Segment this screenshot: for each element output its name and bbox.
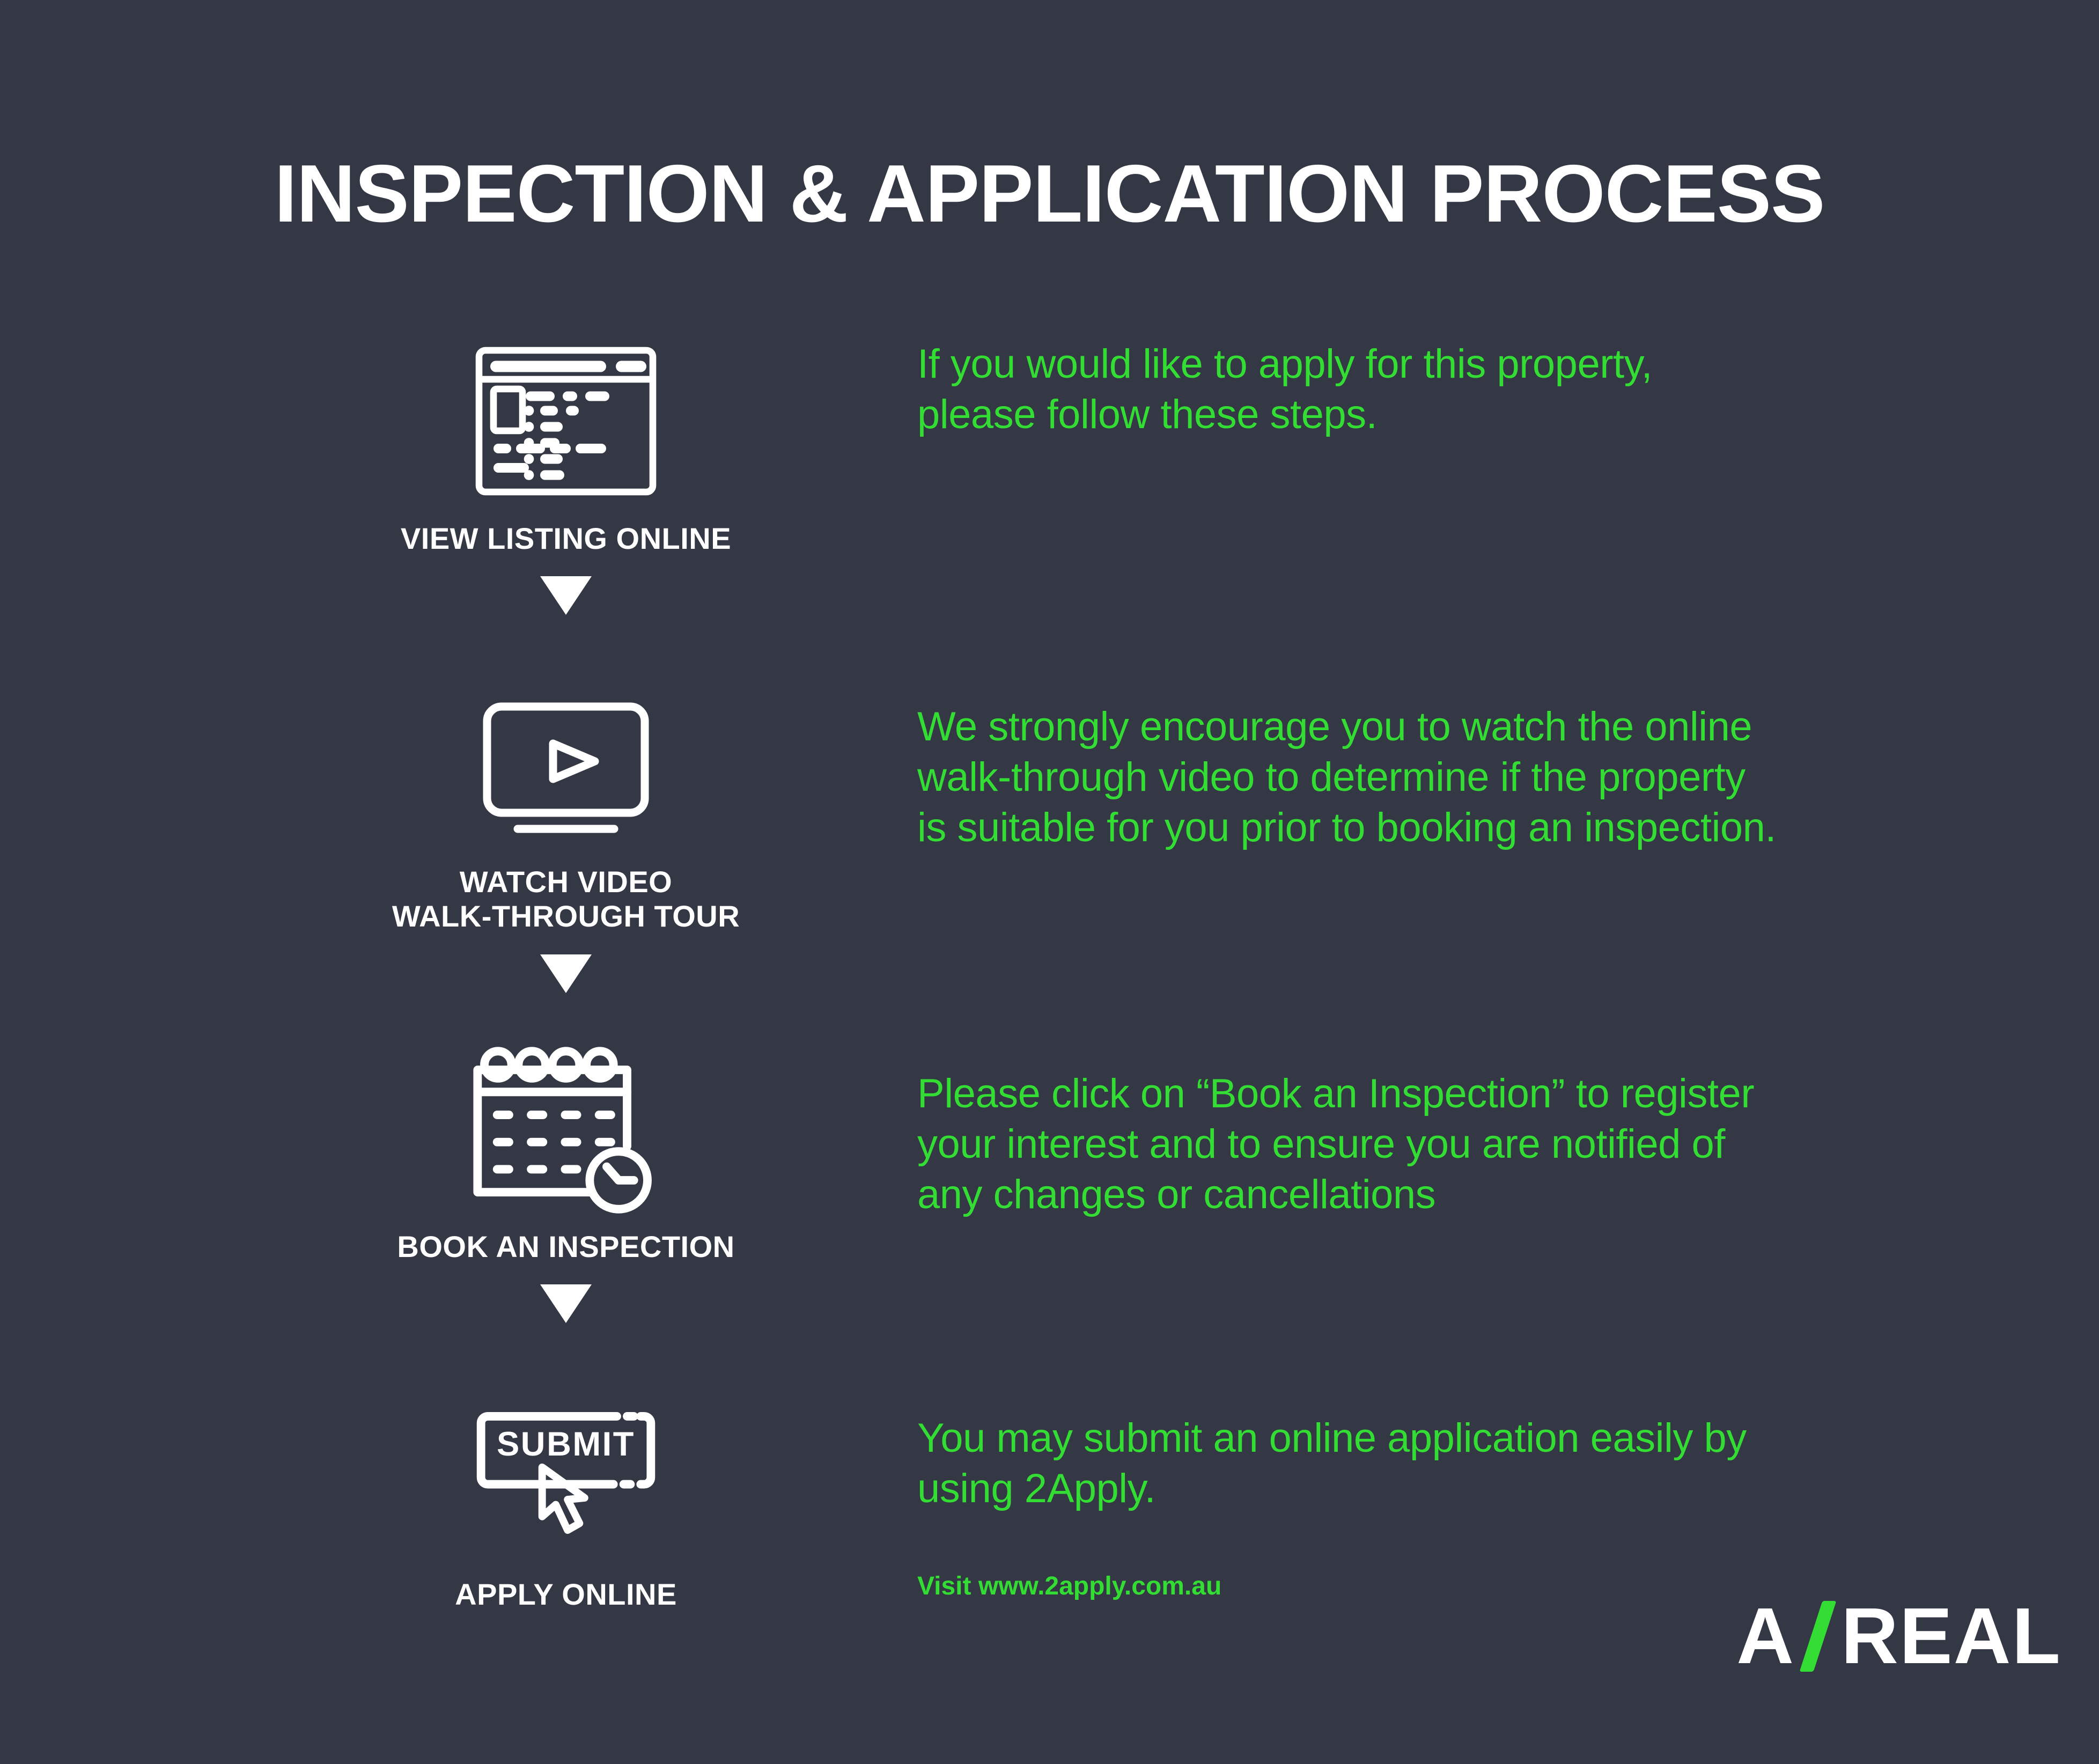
step-1-left: VIEW LISTING ONLINE bbox=[284, 333, 848, 615]
browser-listing-icon bbox=[473, 344, 659, 498]
step-4-left: SUBMIT APPLY ONLINE bbox=[284, 1406, 848, 1612]
step-4-body: You may submit an online application eas… bbox=[917, 1413, 2017, 1514]
step-1-icon-wrap bbox=[284, 333, 848, 510]
page-title: INSPECTION & APPLICATION PROCESS bbox=[0, 153, 2099, 234]
step-row-3: BOOK AN INSPECTION Please click on “Book… bbox=[0, 1041, 2099, 1406]
step-2-label: WATCH VIDEO WALK-THROUGH TOUR bbox=[284, 865, 848, 934]
step-2-icon-wrap bbox=[284, 676, 848, 853]
process-flow: VIEW LISTING ONLINE If you would like to… bbox=[0, 333, 2099, 1663]
step-2-left: WATCH VIDEO WALK-THROUGH TOUR bbox=[284, 676, 848, 993]
step-1-label: VIEW LISTING ONLINE bbox=[284, 521, 848, 556]
slash-icon bbox=[1801, 1601, 1835, 1672]
calendar-clock-icon bbox=[464, 1041, 668, 1218]
visit-url-text[interactable]: Visit www.2apply.com.au bbox=[917, 1571, 1221, 1601]
step-3-arrow-icon bbox=[540, 1284, 592, 1323]
logo-text-real: REAL bbox=[1841, 1597, 2061, 1676]
step-3-body: Please click on “Book an Inspection” to … bbox=[917, 1069, 2017, 1221]
step-3-icon-wrap bbox=[284, 1041, 848, 1218]
step-row-2: WATCH VIDEO WALK-THROUGH TOUR We strongl… bbox=[0, 676, 2099, 1041]
step-2-arrow-icon bbox=[540, 954, 592, 993]
step-1-body: If you would like to apply for this prop… bbox=[917, 339, 2017, 440]
step-2-body: We strongly encourage you to watch the o… bbox=[917, 702, 2017, 854]
step-row-1: VIEW LISTING ONLINE If you would like to… bbox=[0, 333, 2099, 676]
submit-button-cursor-icon: SUBMIT bbox=[464, 1409, 668, 1557]
step-3-label: BOOK AN INSPECTION bbox=[284, 1230, 848, 1264]
logo-text-a: A bbox=[1736, 1597, 1795, 1676]
submit-icon-text: SUBMIT bbox=[497, 1425, 635, 1463]
step-4-label: APPLY ONLINE bbox=[284, 1577, 848, 1612]
step-3-left: BOOK AN INSPECTION bbox=[284, 1041, 848, 1323]
step-1-arrow-icon bbox=[540, 576, 592, 615]
logo: A REAL bbox=[1736, 1596, 2061, 1677]
video-play-monitor-icon bbox=[473, 687, 659, 842]
step-4-icon-wrap: SUBMIT bbox=[284, 1406, 848, 1561]
